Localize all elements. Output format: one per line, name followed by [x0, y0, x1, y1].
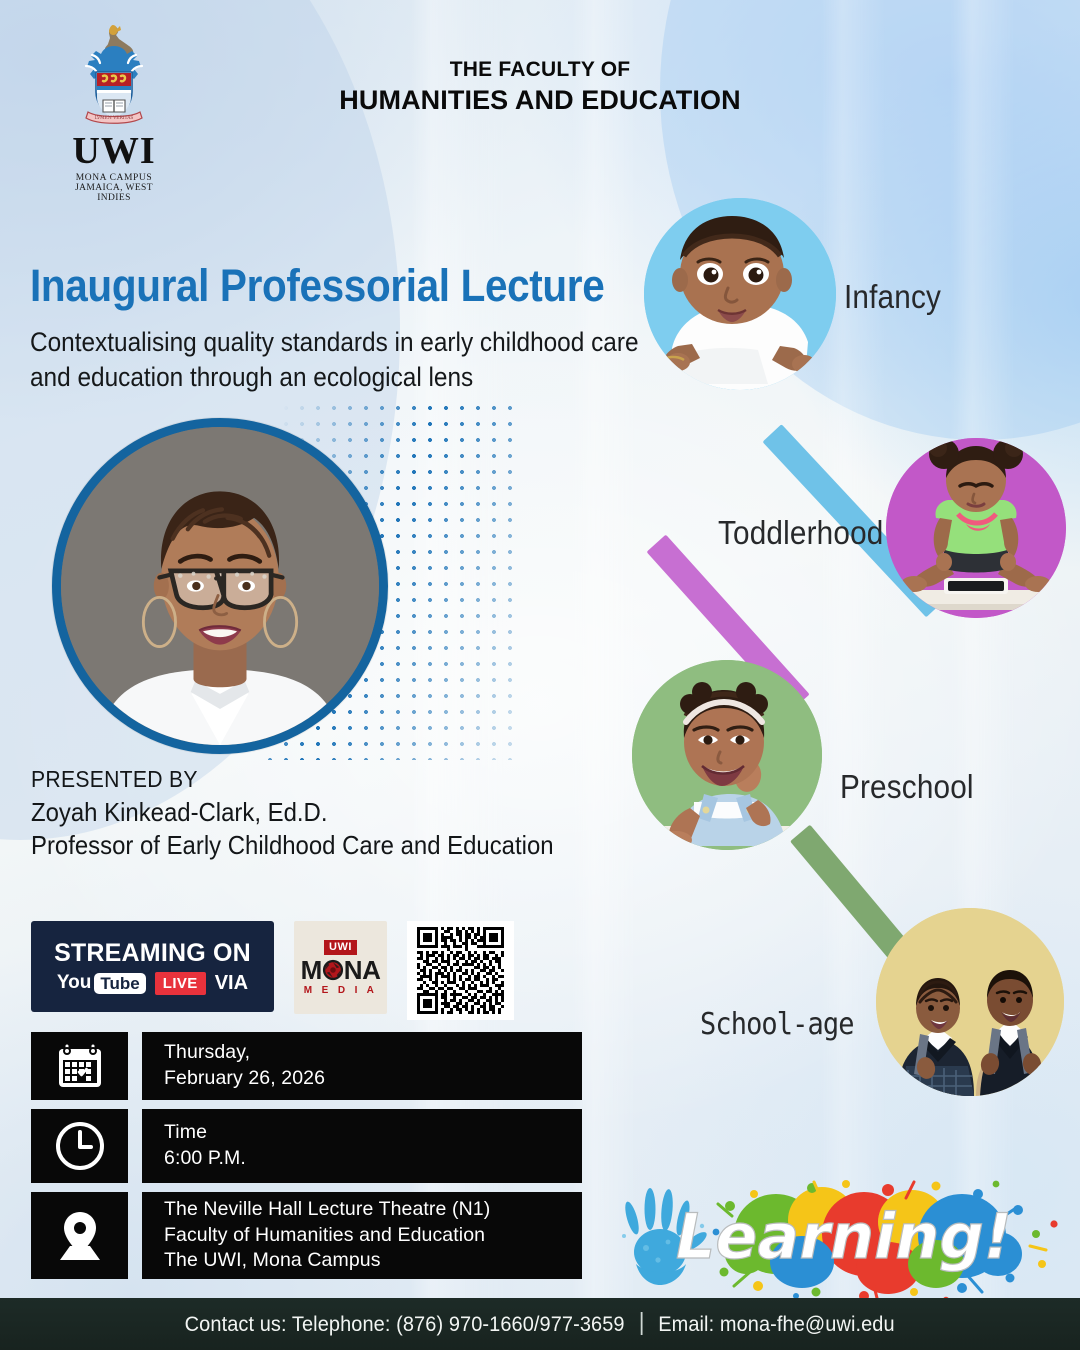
event-date-text: Thursday, February 26, 2026 — [142, 1032, 582, 1100]
live-badge: LIVE — [155, 972, 206, 995]
youtube-logo[interactable]: You Tube — [57, 972, 146, 994]
footer-email-label: Email: — [659, 1313, 715, 1336]
youtube-you-text: You — [57, 972, 91, 994]
map-pin-icon — [31, 1192, 128, 1279]
event-time-text: Time 6:00 P.M. — [142, 1109, 582, 1183]
via-label: VIA — [215, 972, 248, 995]
learning-word: Learning! — [676, 1200, 1012, 1273]
stage-circle-school-age — [876, 908, 1064, 1096]
camera-aperture-icon — [322, 959, 344, 981]
clock-icon — [31, 1109, 128, 1183]
event-details: Thursday, February 26, 2026 Time 6:00 P.… — [31, 1032, 582, 1288]
preschool-child-photo — [632, 660, 822, 850]
faculty-header-line1: THE FACULTY OF — [300, 58, 780, 82]
crest-institution: UWI — [58, 132, 170, 170]
faculty-header-line2: HUMANITIES AND EDUCATION — [300, 85, 780, 116]
event-date-row: Thursday, February 26, 2026 — [31, 1032, 582, 1100]
qr-code[interactable] — [407, 921, 514, 1020]
footer-phone[interactable]: (876) 970-1660/977-3659 — [396, 1313, 624, 1336]
uwi-crest-logo: LVMEN VERITAS UWI MONA CAMPUS JAMAICA, W… — [58, 22, 170, 203]
toddlerhood-child-photo — [886, 438, 1066, 618]
mona-uwi-badge: UWI — [324, 940, 357, 955]
stage-circle-infancy — [644, 198, 836, 390]
school-age-students-photo — [876, 908, 1064, 1096]
stage-circle-toddlerhood — [886, 438, 1066, 618]
event-time-label: Time — [164, 1120, 560, 1146]
lecture-subtitle: Contextualising quality standards in ear… — [30, 325, 665, 394]
faculty-header: THE FACULTY OF HUMANITIES AND EDUCATION — [300, 58, 780, 116]
event-time-row: Time 6:00 P.M. — [31, 1109, 582, 1183]
learning-artwork: Learning! — [606, 1176, 1080, 1304]
footer-contact-label: Contact us: Telephone: — [185, 1313, 391, 1336]
event-date-line-1: Thursday, — [164, 1040, 560, 1066]
lecture-title-block: Inaugural Professorial Lecture Contextua… — [30, 262, 670, 394]
presenter-name: Zoyah Kinkead-Clark, Ed.D. — [31, 797, 554, 828]
mona-letter-m: M — [301, 957, 322, 983]
infancy-baby-photo — [644, 198, 836, 390]
mona-wordmark: M NA — [301, 957, 381, 983]
presenter-rank: Professor of Early Childhood Care and Ed… — [31, 830, 554, 861]
crest-campus: MONA CAMPUS — [58, 173, 170, 183]
stage-label-preschool: Preschool — [840, 768, 974, 806]
presented-by-label: PRESENTED BY — [31, 766, 554, 793]
streaming-banner: STREAMING ON You Tube LIVE VIA — [31, 921, 274, 1012]
presenter-portrait-photo — [52, 418, 388, 754]
event-venue-line-2: Faculty of Humanities and Education — [164, 1223, 560, 1249]
page-title: Inaugural Professorial Lecture — [30, 262, 606, 309]
stage-label-toddlerhood: Toddlerhood — [718, 514, 883, 552]
poster-canvas: LVMEN VERITAS UWI MONA CAMPUS JAMAICA, W… — [0, 0, 1080, 1350]
crest-location: JAMAICA, WEST INDIES — [58, 183, 170, 203]
learning-splash-graphic: Learning! — [606, 1176, 1080, 1304]
event-venue-line-3: The UWI, Mona Campus — [164, 1248, 560, 1274]
streaming-on-label: STREAMING ON — [54, 939, 251, 968]
footer-divider — [641, 1312, 642, 1335]
stage-label-school-age: School-age — [700, 1007, 854, 1042]
qr-code-image — [413, 927, 508, 1014]
event-date-line-2: February 26, 2026 — [164, 1066, 560, 1092]
mona-letters-na: NA — [344, 957, 381, 983]
svg-text:LVMEN VERITAS: LVMEN VERITAS — [95, 116, 134, 121]
portrait-illustration — [61, 427, 379, 745]
stage-label-infancy: Infancy — [844, 278, 941, 316]
footer-contact-line: Contact us: Telephone: (876) 970-1660/97… — [185, 1312, 895, 1337]
presenter-credit: PRESENTED BY Zoyah Kinkead-Clark, Ed.D. … — [31, 766, 599, 861]
youtube-tube-text: Tube — [94, 973, 145, 994]
event-venue-text: The Neville Hall Lecture Theatre (N1) Fa… — [142, 1192, 582, 1279]
event-time-value: 6:00 P.M. — [164, 1146, 560, 1172]
footer-email[interactable]: mona-fhe@uwi.edu — [720, 1313, 895, 1336]
stage-circle-preschool — [632, 660, 822, 850]
mona-media-label: M E D I A — [304, 985, 378, 996]
event-venue-line-1: The Neville Hall Lecture Theatre (N1) — [164, 1197, 560, 1223]
contact-footer: Contact us: Telephone: (876) 970-1660/97… — [0, 1298, 1080, 1350]
uwi-mona-media-logo: UWI M NA M E D I A — [294, 921, 387, 1014]
event-venue-row: The Neville Hall Lecture Theatre (N1) Fa… — [31, 1192, 582, 1279]
streaming-row: STREAMING ON You Tube LIVE VIA UWI M — [31, 921, 514, 1020]
uwi-coat-of-arms-icon: LVMEN VERITAS — [66, 22, 162, 130]
calendar-icon — [31, 1032, 128, 1100]
streaming-platform-row: You Tube LIVE VIA — [57, 972, 248, 995]
